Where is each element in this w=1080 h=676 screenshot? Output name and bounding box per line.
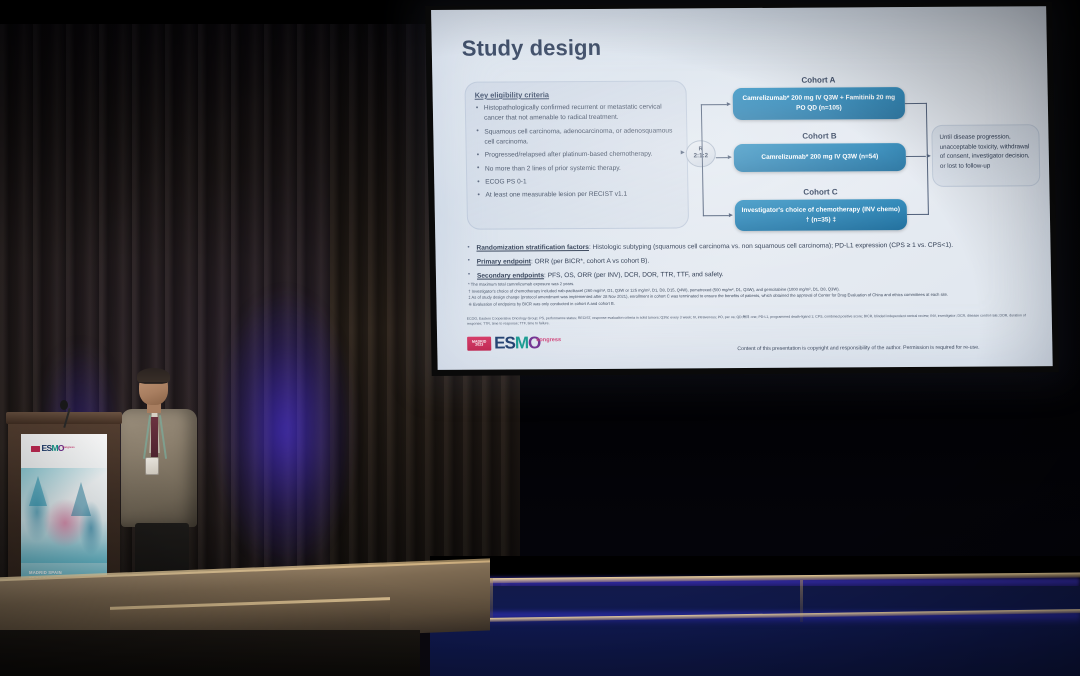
eligibility-heading: Key eligibility criteria bbox=[475, 89, 677, 99]
bullet-key: Randomization stratification factors bbox=[476, 244, 589, 252]
congress-wordmark: congress bbox=[536, 338, 561, 344]
connector-a-out bbox=[905, 103, 927, 104]
list-item: Histopathologically confirmed recurrent … bbox=[475, 102, 677, 124]
abbreviations-text: ECOG, Eastern Cooperative Oncology Group… bbox=[467, 313, 1033, 327]
podium-madrid-badge bbox=[31, 446, 40, 452]
list-item: At least one measurable lesion per RECIS… bbox=[476, 190, 678, 201]
projection-screen: Study design Key eligibility criteria Hi… bbox=[425, 2, 1059, 376]
speaker-name-badge bbox=[145, 457, 159, 475]
connector-rand-to-c bbox=[703, 215, 729, 216]
arrow-to-cohort-b-icon bbox=[728, 155, 732, 159]
esmo-wordmark: ESMO bbox=[494, 336, 540, 351]
eligibility-criteria-box: Key eligibility criteria Histopathologic… bbox=[464, 80, 689, 229]
podium-esmo-wordmark: ESMO bbox=[42, 445, 64, 452]
connector-rand-to-a bbox=[701, 104, 727, 105]
page-title: Study design bbox=[462, 35, 602, 62]
arrow-to-outcome-icon bbox=[927, 153, 931, 157]
cohort-a-box: Camrelizumab* 200 mg IV Q3W + Famitinib … bbox=[733, 87, 906, 120]
cohort-b-label: Cohort B bbox=[733, 131, 905, 141]
arrow-into-randomization-icon bbox=[681, 150, 685, 154]
microphone-head bbox=[60, 400, 68, 410]
bullet-key: Primary endpoint bbox=[477, 258, 531, 265]
copyright-notice: Content of this presentation is copyrigh… bbox=[737, 344, 1047, 352]
speaker-tie bbox=[151, 417, 158, 457]
footnotes-block: * The maximum total camrelizumab exposur… bbox=[468, 278, 1035, 308]
podium-banner: ESMO congress MADRID SPAIN 20-24 OCTOBER… bbox=[21, 434, 107, 597]
stage-blue-floor bbox=[430, 586, 1080, 676]
madrid-2023-badge: MADRID 2023 bbox=[467, 337, 491, 351]
esmo-m: M bbox=[515, 333, 529, 352]
list-item: No more than 2 lines of prior systemic t… bbox=[476, 163, 678, 174]
podium-congress-word: congress bbox=[62, 445, 74, 449]
podium-esmo-logo: ESMO congress bbox=[31, 445, 75, 452]
speaker-glasses bbox=[139, 382, 167, 388]
bullet-rest: : ORR (per BICR*, cohort A vs cohort B). bbox=[531, 258, 649, 266]
blue-stage-light bbox=[190, 250, 380, 610]
conference-hall-photo: Study design Key eligibility criteria Hi… bbox=[0, 0, 1080, 676]
eligibility-list: Histopathologically confirmed recurrent … bbox=[475, 102, 679, 201]
list-item: Progressed/relapsed after platinum-based… bbox=[476, 150, 678, 161]
cohort-a-label: Cohort A bbox=[732, 75, 904, 85]
bullet-key: Secondary endpoints bbox=[477, 272, 544, 279]
connector-merge-trunk bbox=[926, 103, 929, 215]
cohort-c-box: Investigator's choice of chemotherapy (I… bbox=[735, 199, 908, 231]
stage-rail-post bbox=[490, 578, 493, 620]
esmo-logo: MADRID 2023 ESMO congress bbox=[467, 336, 561, 351]
arrow-to-cohort-c-icon bbox=[729, 213, 733, 217]
list-item: Randomization stratification factors: Hi… bbox=[465, 240, 1035, 253]
speaker-jacket bbox=[121, 409, 197, 527]
stage-front-face bbox=[0, 630, 420, 676]
arrow-to-cohort-a-icon bbox=[727, 102, 731, 106]
outcome-box: Until disease progression, unacceptable … bbox=[931, 124, 1040, 187]
cohort-b-box: Camrelizumab* 200 mg IV Q3W (n=54) bbox=[734, 143, 907, 172]
connector-c-out bbox=[907, 214, 929, 215]
list-item: Squamous cell carcinoma, adenocarcinoma,… bbox=[475, 126, 677, 148]
abbreviations-block: ECOG, Eastern Cooperative Oncology Group… bbox=[467, 313, 1033, 327]
list-item: Primary endpoint: ORR (per BICR*, cohort… bbox=[466, 254, 1036, 267]
badge-line-2: 2023 bbox=[475, 344, 483, 348]
connector-rand-to-b bbox=[716, 157, 728, 158]
podium-banner-artwork bbox=[21, 468, 107, 563]
bullet-rest: : Histologic subtyping (squamous cell ca… bbox=[589, 242, 953, 251]
presentation-slide: Study design Key eligibility criteria Hi… bbox=[431, 6, 1053, 370]
esmo-es: ES bbox=[494, 333, 515, 352]
list-item: ECOG PS 0-1 bbox=[476, 177, 678, 188]
podium-esmo-es: ES bbox=[42, 443, 52, 453]
bullet-rest: : PFS, OS, ORR (per INV), DCR, DOR, TTR,… bbox=[544, 271, 724, 279]
cohort-c-label: Cohort C bbox=[734, 187, 906, 197]
connector-b-out bbox=[906, 156, 926, 157]
